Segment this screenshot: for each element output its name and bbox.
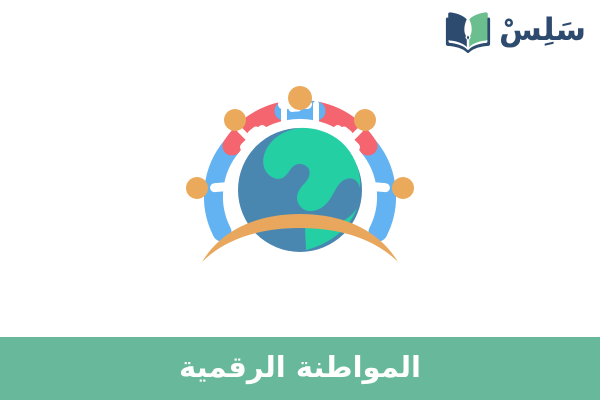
- banner-title-text: المواطنة الرقمية: [179, 353, 421, 384]
- open-book-icon: [445, 10, 491, 54]
- person-head-upper-left: [224, 109, 246, 131]
- title-banner: المواطنة الرقمية: [0, 337, 600, 400]
- person-head-lower-left: [186, 177, 208, 199]
- globe-and-people-graphic: [180, 82, 420, 274]
- digital-citizenship-illustration: [180, 82, 420, 274]
- person-head-lower-right: [392, 177, 414, 199]
- brand-logo[interactable]: سَلِسْ: [445, 6, 586, 58]
- person-head-upper-right: [354, 109, 376, 131]
- person-head-top: [288, 86, 312, 110]
- brand-wordmark: سَلِسْ: [499, 15, 586, 49]
- poster-card: سَلِسْ: [0, 0, 600, 400]
- globe: [238, 128, 362, 252]
